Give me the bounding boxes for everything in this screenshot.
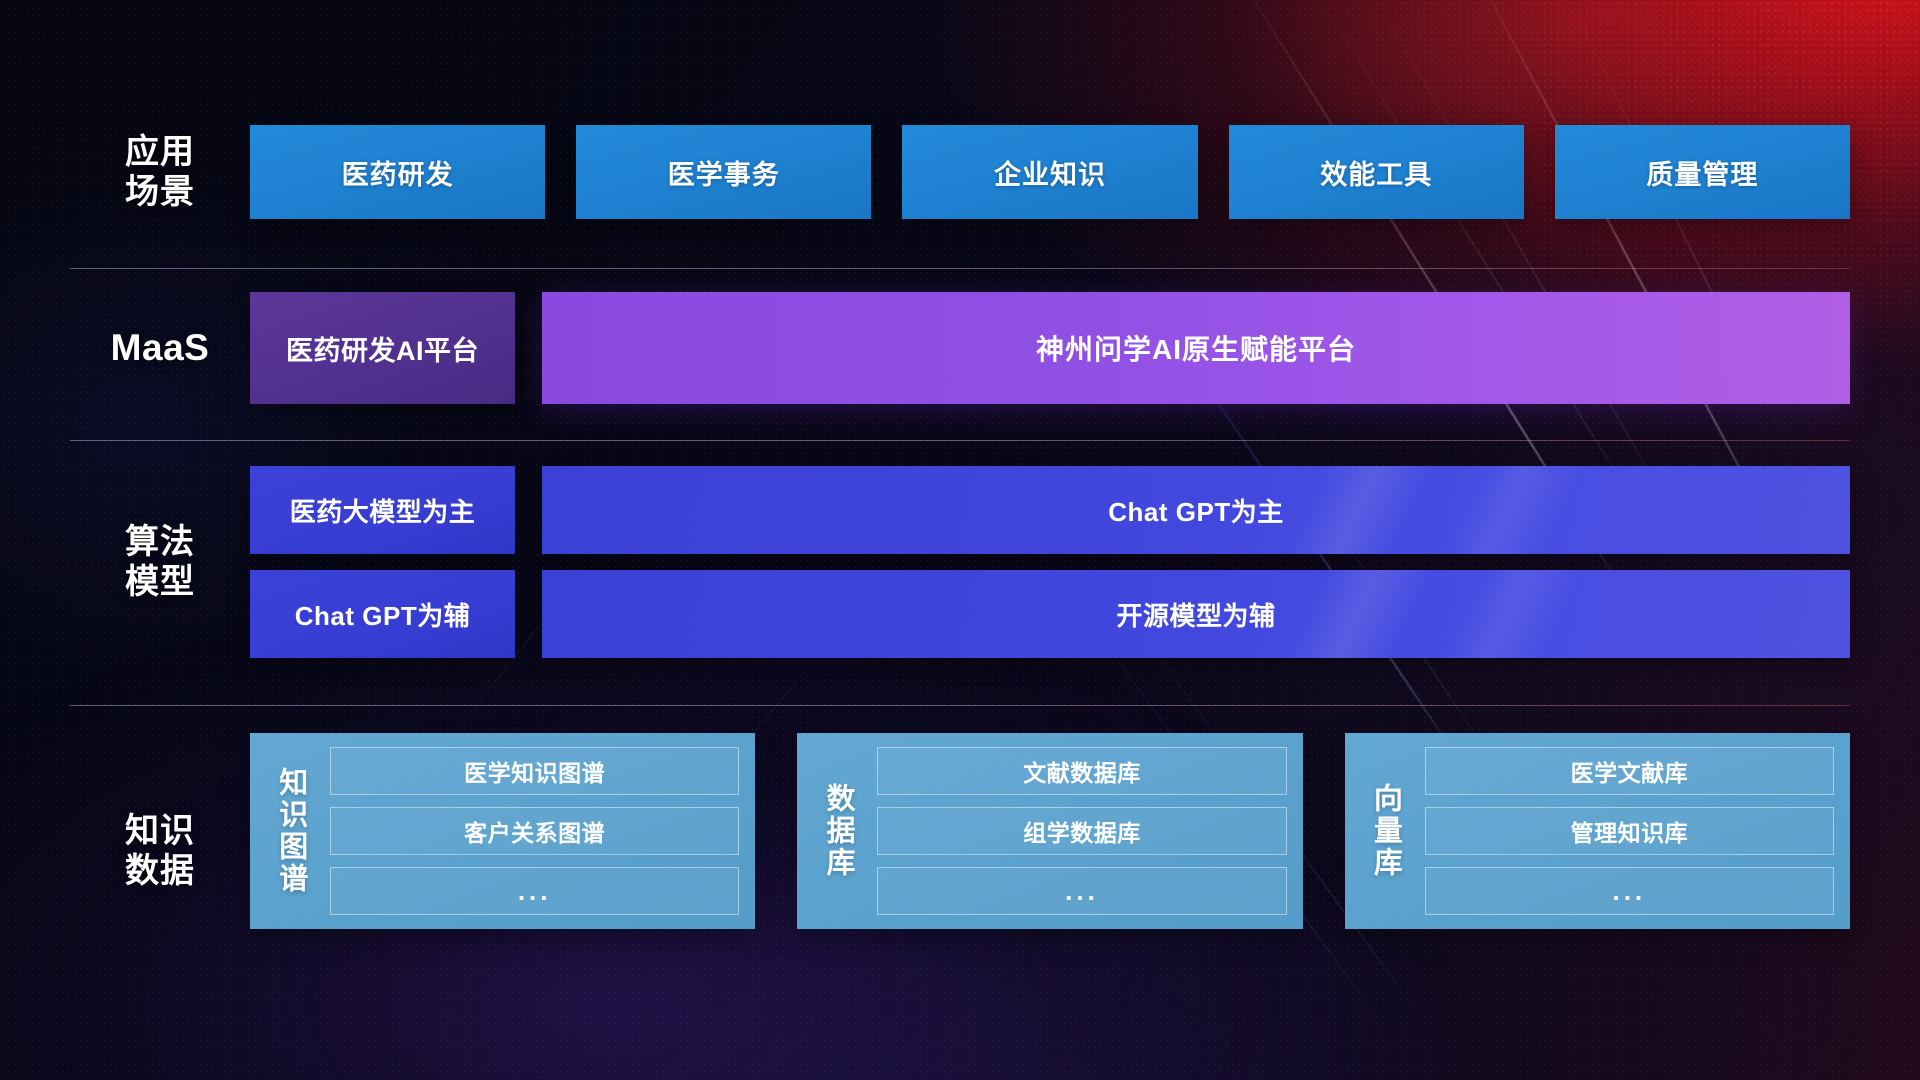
app-card-0-label: 医药研发 xyxy=(342,153,454,192)
algorithm-card-secondary-left[interactable]: Chat GPT为辅 xyxy=(250,570,515,658)
row-label-applications-text: 应用 场景 xyxy=(125,133,195,211)
app-card-3[interactable]: 效能工具 xyxy=(1229,125,1524,219)
app-card-3-label: 效能工具 xyxy=(1320,153,1432,192)
knowledge-group-vector-store[interactable]: 向量库 医学文献库 管理知识库 ... xyxy=(1345,733,1850,929)
knowledge-item-1-2[interactable]: ... xyxy=(877,867,1286,915)
knowledge-item-2-0-label: 医学文献库 xyxy=(1571,754,1689,788)
knowledge-item-1-0-label: 文献数据库 xyxy=(1023,754,1141,788)
maas-card-native-ai-platform[interactable]: 神州问学AI原生赋能平台 xyxy=(542,292,1850,404)
algorithm-card-primary-right-label: Chat GPT为主 xyxy=(1108,492,1283,529)
row-knowledge: 知识 数据 知识图谱 医学知识图谱 客户关系图谱 ... 数据库 文献数据库 组… xyxy=(70,733,1850,929)
application-cards: 医药研发 医学事务 企业知识 效能工具 质量管理 xyxy=(250,125,1850,219)
algorithm-line-0: 医药大模型为主 Chat GPT为主 xyxy=(250,466,1850,554)
row-label-knowledge-text: 知识 数据 xyxy=(125,812,195,890)
row-label-maas: MaaS xyxy=(70,326,250,370)
row-label-maas-text: MaaS xyxy=(111,327,210,368)
knowledge-group-0-title: 知识图谱 xyxy=(264,747,316,915)
row-label-algorithm-text: 算法 模型 xyxy=(125,523,195,601)
app-card-1-label: 医学事务 xyxy=(668,153,780,192)
knowledge-group-0-title-text: 知识图谱 xyxy=(272,767,307,895)
app-card-0[interactable]: 医药研发 xyxy=(250,125,545,219)
knowledge-item-1-0[interactable]: 文献数据库 xyxy=(877,747,1286,795)
app-card-2-label: 企业知识 xyxy=(994,153,1106,192)
knowledge-item-2-2-label: ... xyxy=(1612,876,1646,907)
row-label-algorithm: 算法 模型 xyxy=(70,522,250,602)
knowledge-item-2-1-label: 管理知识库 xyxy=(1571,814,1689,848)
knowledge-item-0-2-label: ... xyxy=(518,876,552,907)
algorithm-cards: 医药大模型为主 Chat GPT为主 Chat GPT为辅 开源模型为辅 xyxy=(250,466,1850,658)
diagram-content: 应用 场景 医药研发 医学事务 企业知识 效能工具 质量管理 MaaS 医药研发… xyxy=(0,0,1920,1080)
knowledge-item-0-0[interactable]: 医学知识图谱 xyxy=(330,747,739,795)
knowledge-item-2-1[interactable]: 管理知识库 xyxy=(1425,807,1834,855)
knowledge-item-0-2[interactable]: ... xyxy=(330,867,739,915)
maas-card-native-ai-platform-label: 神州问学AI原生赋能平台 xyxy=(1036,328,1356,368)
knowledge-item-1-1[interactable]: 组学数据库 xyxy=(877,807,1286,855)
row-label-applications: 应用 场景 xyxy=(70,132,250,212)
divider-2 xyxy=(70,440,1850,441)
knowledge-group-2-items: 医学文献库 管理知识库 ... xyxy=(1425,747,1834,915)
app-card-4-label: 质量管理 xyxy=(1646,153,1758,192)
knowledge-group-2-title-text: 向量库 xyxy=(1367,783,1402,879)
knowledge-item-0-1-label: 客户关系图谱 xyxy=(464,814,605,848)
algorithm-card-secondary-right[interactable]: 开源模型为辅 xyxy=(542,570,1850,658)
algorithm-line-1: Chat GPT为辅 开源模型为辅 xyxy=(250,570,1850,658)
knowledge-group-knowledge-graph[interactable]: 知识图谱 医学知识图谱 客户关系图谱 ... xyxy=(250,733,755,929)
divider-1 xyxy=(70,268,1850,269)
knowledge-group-1-items: 文献数据库 组学数据库 ... xyxy=(877,747,1286,915)
app-card-2[interactable]: 企业知识 xyxy=(902,125,1197,219)
maas-cards: 医药研发AI平台 神州问学AI原生赋能平台 xyxy=(250,292,1850,404)
knowledge-item-1-2-label: ... xyxy=(1065,876,1099,907)
maas-card-drug-ai-platform[interactable]: 医药研发AI平台 xyxy=(250,292,515,404)
algorithm-card-primary-left[interactable]: 医药大模型为主 xyxy=(250,466,515,554)
row-applications: 应用 场景 医药研发 医学事务 企业知识 效能工具 质量管理 xyxy=(70,125,1850,219)
row-maas: MaaS 医药研发AI平台 神州问学AI原生赋能平台 xyxy=(70,292,1850,404)
algorithm-card-primary-left-label: 医药大模型为主 xyxy=(290,492,476,529)
app-card-4[interactable]: 质量管理 xyxy=(1555,125,1850,219)
divider-3 xyxy=(70,705,1850,706)
slide-canvas: 应用 场景 医药研发 医学事务 企业知识 效能工具 质量管理 MaaS 医药研发… xyxy=(0,0,1920,1080)
algorithm-card-primary-right[interactable]: Chat GPT为主 xyxy=(542,466,1850,554)
algorithm-card-secondary-right-label: 开源模型为辅 xyxy=(1116,596,1275,633)
knowledge-group-0-items: 医学知识图谱 客户关系图谱 ... xyxy=(330,747,739,915)
app-card-1[interactable]: 医学事务 xyxy=(576,125,871,219)
knowledge-item-1-1-label: 组学数据库 xyxy=(1023,814,1141,848)
knowledge-group-database[interactable]: 数据库 文献数据库 组学数据库 ... xyxy=(797,733,1302,929)
knowledge-item-2-0[interactable]: 医学文献库 xyxy=(1425,747,1834,795)
knowledge-group-2-title: 向量库 xyxy=(1359,747,1411,915)
row-label-knowledge: 知识 数据 xyxy=(70,733,250,891)
knowledge-group-1-title-text: 数据库 xyxy=(820,783,855,879)
knowledge-item-2-2[interactable]: ... xyxy=(1425,867,1834,915)
knowledge-item-0-0-label: 医学知识图谱 xyxy=(464,754,605,788)
knowledge-item-0-1[interactable]: 客户关系图谱 xyxy=(330,807,739,855)
row-algorithm: 算法 模型 医药大模型为主 Chat GPT为主 Chat GPT为辅 开源模型… xyxy=(70,466,1850,658)
knowledge-groups: 知识图谱 医学知识图谱 客户关系图谱 ... 数据库 文献数据库 组学数据库 .… xyxy=(250,733,1850,929)
knowledge-group-1-title: 数据库 xyxy=(811,747,863,915)
maas-card-drug-ai-platform-label: 医药研发AI平台 xyxy=(286,329,479,368)
algorithm-card-secondary-left-label: Chat GPT为辅 xyxy=(295,596,470,633)
